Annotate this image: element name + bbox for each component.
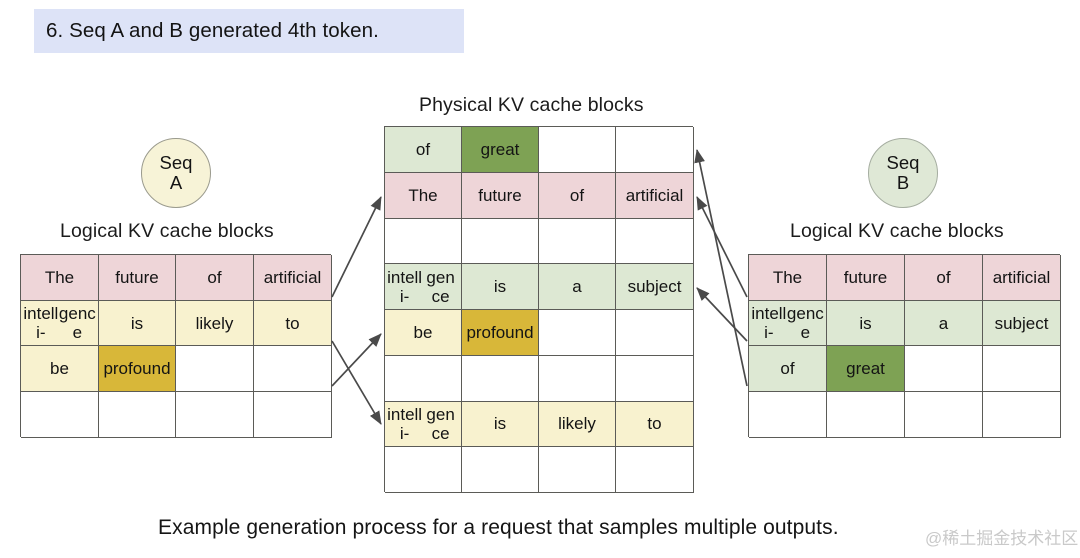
kv-cell: of [385,127,462,173]
kv-cell [827,392,905,438]
kv-cell: subject [616,264,694,310]
kv-cell: The [385,173,462,219]
kv-cell: likely [176,301,254,347]
kv-cell [385,447,462,493]
kv-cell: profound [99,346,176,392]
kv-cell [539,310,616,356]
kv-cell: intelli-gence [21,301,99,347]
kv-cell: artificial [254,255,332,301]
kv-cell: intelli-gence [385,402,462,448]
kv-cell [385,219,462,265]
kv-cell: be [21,346,99,392]
kv-cell [616,447,694,493]
kv-cell: profound [462,310,539,356]
kv-cell [539,127,616,173]
kv-cell [385,356,462,402]
step-banner-label: 6. Seq A and B generated 4th token. [46,19,379,43]
kv-cell: is [827,301,905,347]
kv-cell: great [827,346,905,392]
watermark: @稀土掘金技术社区 [925,524,1078,549]
kv-cell [616,219,694,265]
physical-kv-table: ofgreatThefutureofartificialintelli-genc… [384,126,693,492]
kv-cell [905,392,983,438]
kv-cell [176,392,254,438]
arrow-a-row1-to-phys-row2 [332,197,381,297]
kv-cell [905,346,983,392]
kv-cell: of [539,173,616,219]
kv-cell: a [539,264,616,310]
seq-a-badge: Seq A [141,138,211,208]
kv-cell [21,392,99,438]
arrow-b-row1-to-phys-row2 [697,197,747,297]
arrow-a-row2-to-phys-row7 [332,341,381,424]
figure-caption: Example generation process for a request… [158,516,839,540]
kv-cell: artificial [616,173,694,219]
kv-cell: future [462,173,539,219]
kv-cell [254,392,332,438]
logical-blocks-title-left: Logical KV cache blocks [60,220,274,243]
slide-canvas: 6. Seq A and B generated 4th token. Phys… [0,0,1080,558]
kv-cell: is [462,402,539,448]
kv-cell: The [749,255,827,301]
arrow-b-row3-to-phys-row1 [697,150,747,386]
kv-cell: be [385,310,462,356]
seq-b-label-line2: B [897,173,909,193]
seq-b-label-line1: Seq [887,153,920,173]
kv-cell [462,447,539,493]
kv-cell [462,219,539,265]
kv-cell: subject [983,301,1061,347]
kv-cell [539,447,616,493]
kv-cell [176,346,254,392]
seq-b-badge: Seq B [868,138,938,208]
seq-a-label-line2: A [170,173,182,193]
kv-cell [616,310,694,356]
kv-cell: a [905,301,983,347]
kv-cell [99,392,176,438]
kv-cell: to [254,301,332,347]
logical-kv-table-seq-a: Thefutureofartificialintelli-genceislike… [20,254,331,437]
kv-cell: future [99,255,176,301]
kv-cell [462,356,539,402]
kv-cell: intelli-gence [385,264,462,310]
arrow-a-row3-to-phys-row5 [332,334,381,386]
seq-a-label-line1: Seq [160,153,193,173]
kv-cell: is [99,301,176,347]
kv-cell [616,127,694,173]
logical-kv-table-seq-b: Thefutureofartificialintelli-genceisasub… [748,254,1060,437]
arrow-b-row2-to-phys-row4 [697,288,747,341]
kv-cell [983,346,1061,392]
kv-cell: intelli-gence [749,301,827,347]
kv-cell [539,356,616,402]
kv-cell: great [462,127,539,173]
logical-blocks-title-right: Logical KV cache blocks [790,220,1004,243]
kv-cell: of [749,346,827,392]
kv-cell [983,392,1061,438]
kv-cell [749,392,827,438]
kv-cell [616,356,694,402]
kv-cell: artificial [983,255,1061,301]
kv-cell: likely [539,402,616,448]
step-banner: 6. Seq A and B generated 4th token. [34,9,464,53]
kv-cell: of [905,255,983,301]
kv-cell: to [616,402,694,448]
kv-cell: future [827,255,905,301]
kv-cell [254,346,332,392]
kv-cell: of [176,255,254,301]
kv-cell: is [462,264,539,310]
kv-cell [539,219,616,265]
kv-cell: The [21,255,99,301]
physical-blocks-title: Physical KV cache blocks [419,94,644,117]
